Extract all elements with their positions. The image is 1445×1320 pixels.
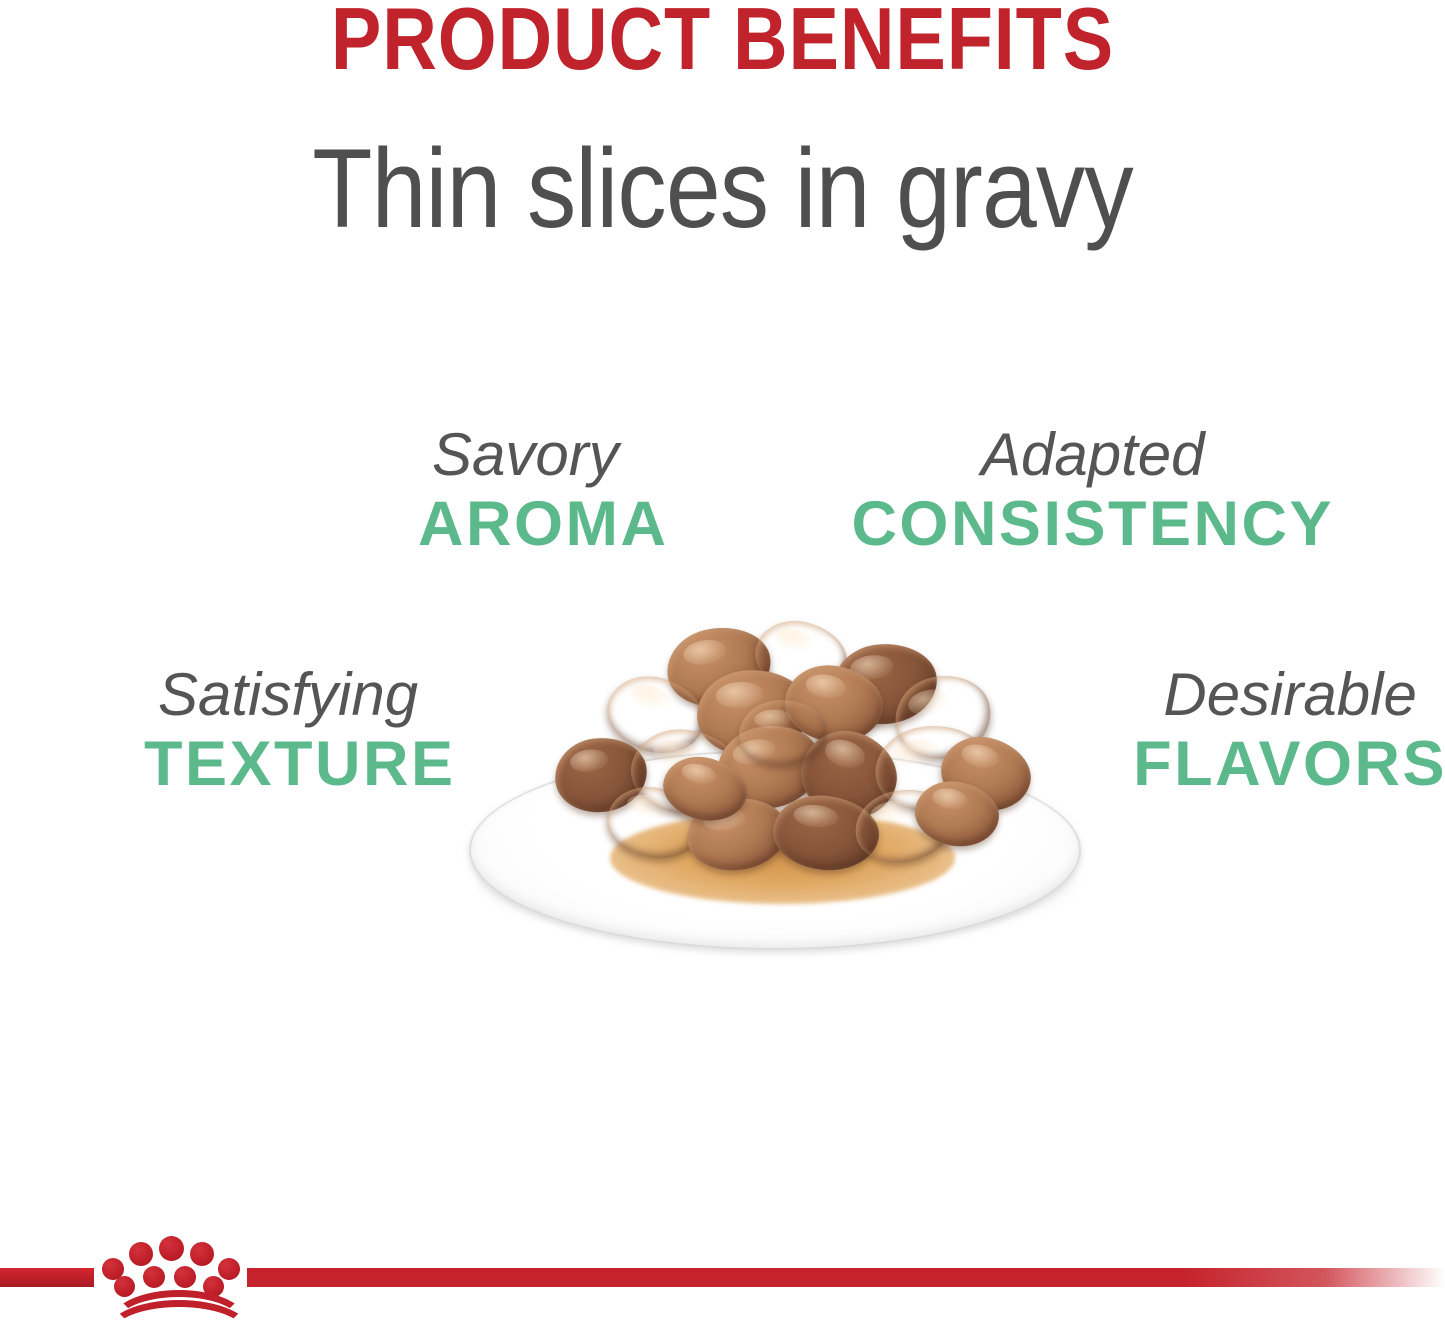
benefit-aroma-lead: Savory: [418, 425, 668, 485]
crown-dot: [190, 1242, 214, 1266]
benefit-texture: Satisfying TEXTURE: [144, 665, 456, 796]
benefit-aroma-label: AROMA: [418, 493, 668, 556]
page-subtitle: Thin slices in gravy: [87, 124, 1359, 253]
crown-dot: [174, 1266, 196, 1288]
crown-dot: [218, 1258, 240, 1280]
page-title: PRODUCT BENEFITS: [101, 0, 1344, 90]
crown-dot: [114, 1276, 135, 1297]
footer-bar-left: [0, 1268, 94, 1287]
benefit-consistency-label: CONSISTENCY: [851, 493, 1334, 556]
crown-dot: [143, 1266, 165, 1288]
crown-dot: [159, 1236, 184, 1261]
benefit-flavors-label: FLAVORS: [1133, 733, 1445, 796]
crown-dot: [129, 1242, 153, 1266]
footer: [0, 1228, 1445, 1320]
product-photo: [455, 600, 1095, 955]
benefit-aroma: Savory AROMA: [418, 425, 668, 556]
benefit-flavors-lead: Desirable: [1133, 665, 1445, 725]
product-benefits-panel: PRODUCT BENEFITS Thin slices in gravy Sa…: [0, 0, 1445, 1320]
benefit-consistency-lead: Adapted: [851, 425, 1334, 485]
royal-canin-crown-icon: [96, 1228, 248, 1318]
benefit-consistency: Adapted CONSISTENCY: [851, 425, 1334, 556]
footer-bar-right: [247, 1268, 1445, 1287]
benefit-flavors: Desirable FLAVORS: [1133, 665, 1445, 796]
benefit-texture-label: TEXTURE: [144, 733, 456, 796]
benefit-texture-lead: Satisfying: [144, 665, 456, 725]
